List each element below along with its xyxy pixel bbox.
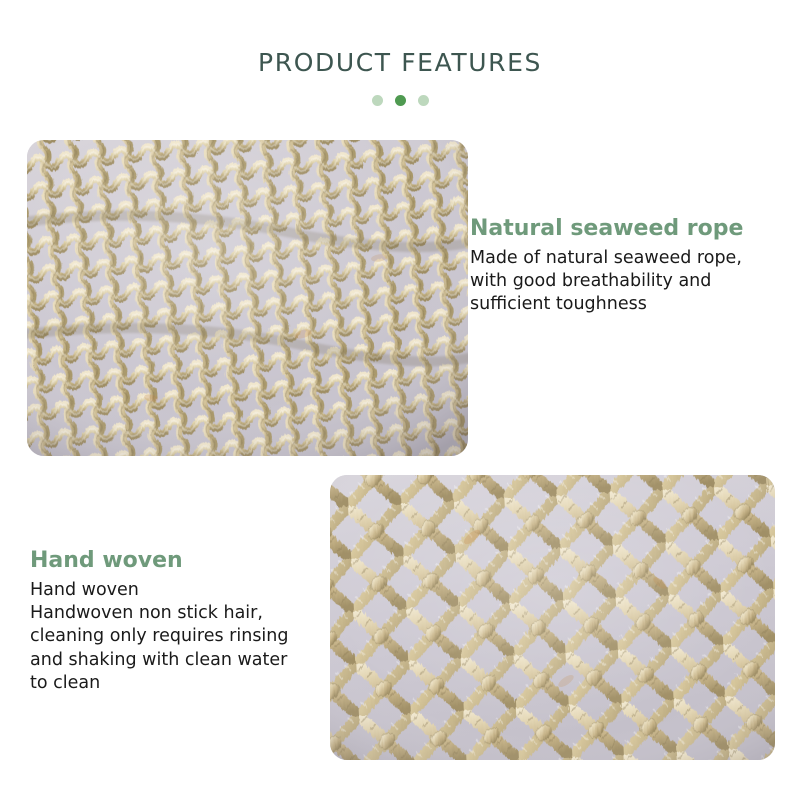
seagrass-fine-mesh-illustration xyxy=(27,140,468,456)
product-features-page: PRODUCT FEATURES xyxy=(0,0,800,800)
feature-body-line: Hand woven xyxy=(30,579,330,602)
pagination-dot-3[interactable] xyxy=(418,95,429,106)
feature-body-natural-seaweed-rope: Made of natural seaweed rope, with good … xyxy=(470,247,780,316)
feature-body-line: cleaning only requires rinsing xyxy=(30,625,330,648)
feature-body-line: Handwoven non stick hair, xyxy=(30,602,330,625)
feature-body-line: Made of natural seaweed rope, xyxy=(470,247,780,270)
pagination-dots xyxy=(0,95,800,106)
feature-block-natural-seaweed-rope: Natural seaweed rope Made of natural sea… xyxy=(470,216,780,317)
feature-body-hand-woven: Hand woven Handwoven non stick hair, cle… xyxy=(30,579,330,694)
feature-photo-hand-woven xyxy=(330,475,775,760)
pagination-dot-1[interactable] xyxy=(372,95,383,106)
feature-body-line: with good breathability and xyxy=(470,270,780,293)
feature-block-hand-woven: Hand woven Hand woven Handwoven non stic… xyxy=(30,548,330,695)
feature-body-line: to clean xyxy=(30,672,330,695)
pagination-dot-2[interactable] xyxy=(395,95,406,106)
feature-body-line: and shaking with clean water xyxy=(30,649,330,672)
feature-heading-natural-seaweed-rope: Natural seaweed rope xyxy=(470,216,780,241)
feature-photo-natural-seaweed-rope xyxy=(27,140,468,456)
seagrass-lattice-illustration xyxy=(330,475,775,760)
feature-body-line: sufficient toughness xyxy=(470,293,780,316)
page-title: PRODUCT FEATURES xyxy=(0,48,800,77)
feature-heading-hand-woven: Hand woven xyxy=(30,548,330,573)
